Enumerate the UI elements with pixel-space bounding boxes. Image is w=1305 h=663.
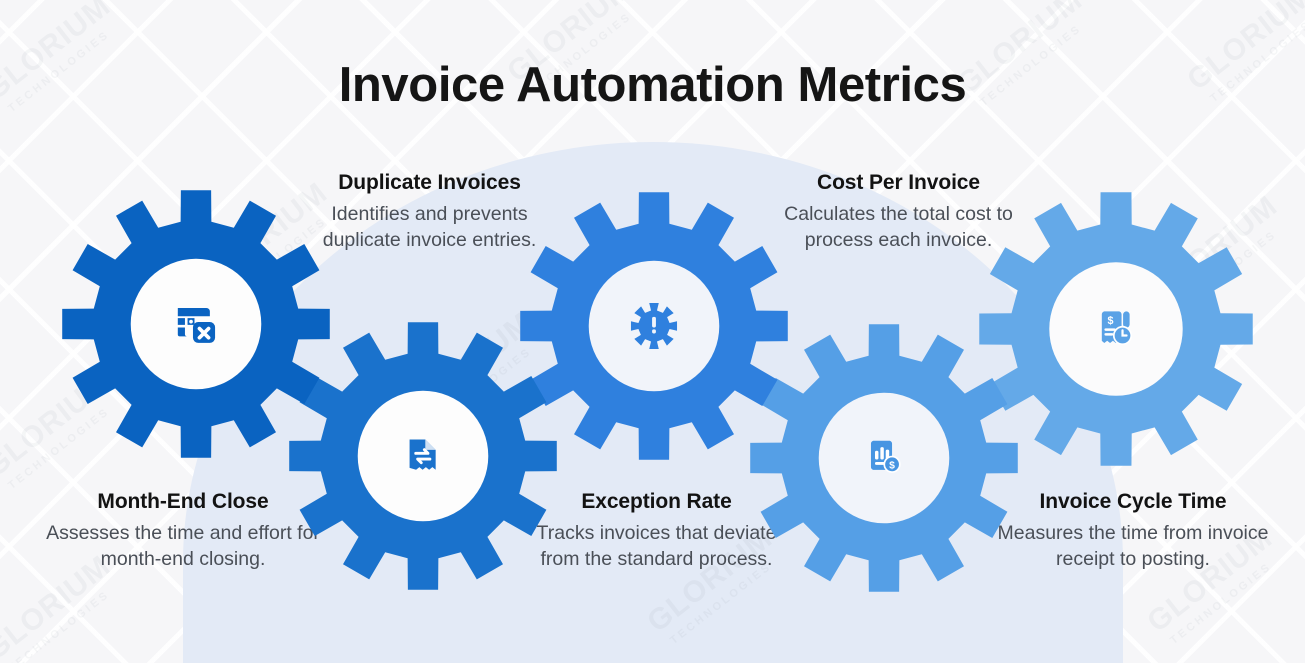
- caption-month-end-close: Month-End Close Assesses the time and ef…: [42, 489, 324, 573]
- caption-title: Month-End Close: [42, 489, 324, 515]
- caption-description: Measures the time from invoice receipt t…: [993, 521, 1273, 572]
- invoice-clock-icon: $: [1093, 306, 1139, 352]
- calendar-x-icon: [170, 298, 222, 350]
- svg-text:$: $: [1107, 315, 1113, 327]
- svg-text:$: $: [889, 461, 895, 472]
- invoice-chart-dollar-icon: $: [861, 435, 907, 481]
- page-title: Invoice Automation Metrics: [0, 57, 1305, 113]
- caption-invoice-cycle-time: Invoice Cycle Time Measures the time fro…: [993, 489, 1273, 573]
- caption-title: Invoice Cycle Time: [993, 489, 1273, 515]
- gear-alert-icon: [630, 302, 678, 350]
- invoice-exchange-icon: [400, 433, 446, 479]
- gear-month-end-close[interactable]: [60, 188, 332, 460]
- caption-description: Assesses the time and effort for month-e…: [42, 521, 324, 572]
- infographic-canvas: GLORIUM TECHNOLOGIES GLORIUM TECHNOLOGIE…: [0, 0, 1305, 663]
